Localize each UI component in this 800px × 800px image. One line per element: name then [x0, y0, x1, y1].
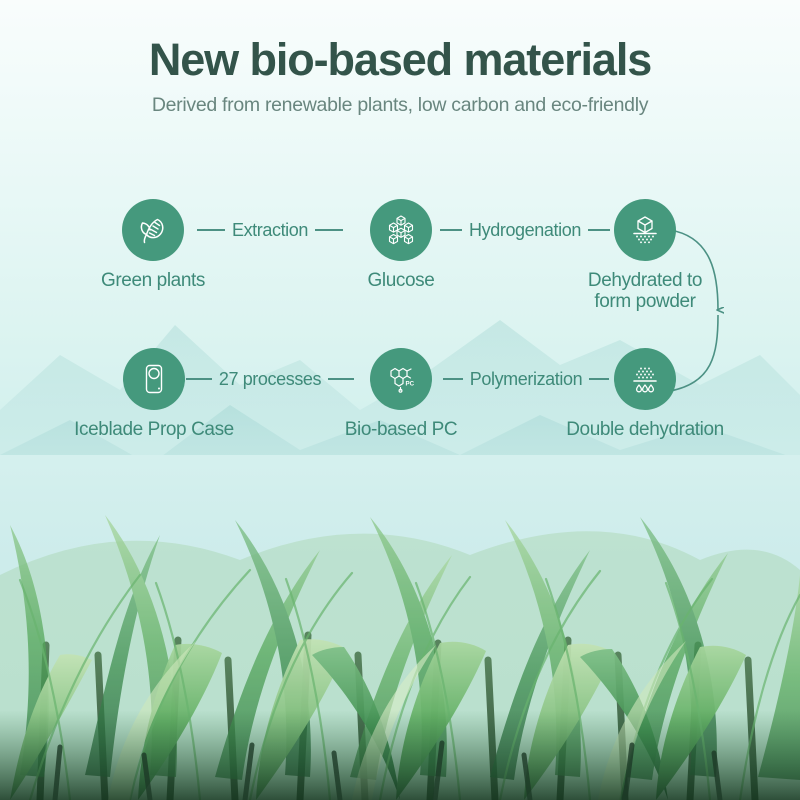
node-iceblade-case[interactable]: Iceblade Prop Case [39, 348, 269, 440]
node-bio-based-pc-label: Bio-based PC [316, 419, 486, 440]
connector-line-left [186, 378, 212, 380]
sugar-cubes-icon [384, 213, 418, 247]
iceblade-case-circle [123, 348, 185, 410]
cube-powder-icon [628, 213, 662, 247]
connector-processes-label: 27 processes [219, 369, 321, 390]
pc-molecule-icon: PC [383, 361, 419, 397]
infographic-canvas: New bio-based materials Derived from ren… [0, 0, 800, 800]
powder-droplets-icon [628, 362, 662, 396]
connector-extraction-label: Extraction [232, 220, 308, 241]
phone-case-icon [137, 362, 171, 396]
node-glucose[interactable]: Glucose [316, 199, 486, 291]
node-iceblade-case-label: Iceblade Prop Case [39, 419, 269, 440]
node-dehydrated-powder-label: Dehydrated to form powder [530, 270, 760, 313]
header: New bio-based materials Derived from ren… [0, 0, 800, 117]
page-subtitle: Derived from renewable plants, low carbo… [0, 94, 800, 117]
connector-line-left [197, 229, 225, 231]
glucose-circle [370, 199, 432, 261]
node-glucose-label: Glucose [316, 270, 486, 291]
pc-molecule-text: PC [406, 381, 415, 388]
page-title: New bio-based materials [0, 35, 800, 85]
connector-line-left [443, 378, 463, 380]
node-double-dehydration-label: Double dehydration [530, 419, 760, 440]
node-double-dehydration[interactable]: Double dehydration [530, 348, 760, 440]
double-dehydration-circle [614, 348, 676, 410]
green-plants-circle [122, 199, 184, 261]
node-green-plants[interactable]: Green plants [68, 199, 238, 291]
connector-line-left [440, 229, 462, 231]
sugarcane-field-photo [0, 455, 800, 800]
corn-icon [136, 213, 170, 247]
bio-based-pc-circle: PC [370, 348, 432, 410]
node-green-plants-label: Green plants [68, 270, 238, 291]
node-dehydrated-powder[interactable]: Dehydrated to form powder [530, 199, 760, 313]
dehydrated-powder-circle [614, 199, 676, 261]
node-bio-based-pc[interactable]: PC Bio-based PC [316, 348, 486, 440]
